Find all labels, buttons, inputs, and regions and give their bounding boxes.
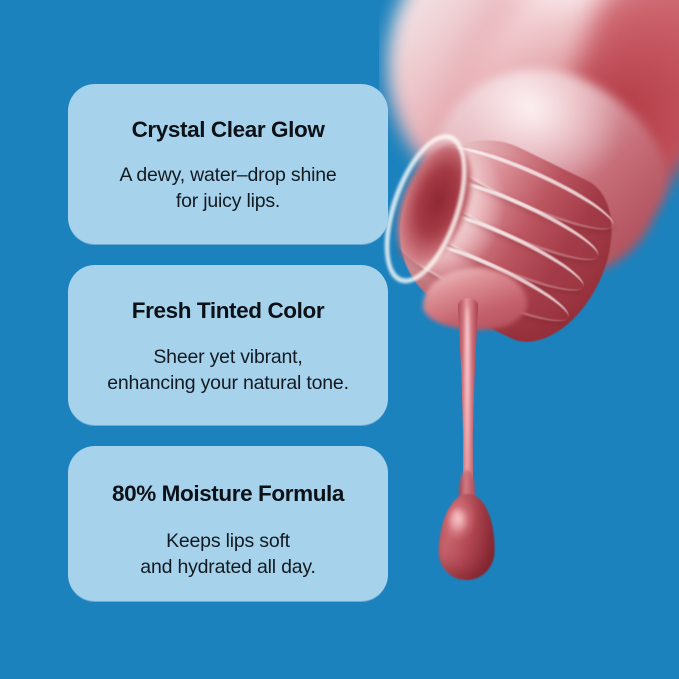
gloss-drip-teardrop — [438, 493, 497, 581]
feature-card-body-line: for juicy lips. — [84, 189, 372, 215]
product-feature-banner: Crystal Clear Glow A dewy, water–drop sh… — [0, 0, 679, 679]
feature-card-title: Fresh Tinted Color — [84, 287, 372, 324]
feature-card-body: A dewy, water–drop shine for juicy lips. — [84, 163, 372, 215]
feature-card-list: Crystal Clear Glow A dewy, water–drop sh… — [68, 84, 388, 601]
feature-card-body-line: A dewy, water–drop shine — [84, 163, 372, 189]
feature-card-crystal-clear-glow: Crystal Clear Glow A dewy, water–drop sh… — [68, 84, 388, 244]
feature-card-body-line: enhancing your natural tone. — [84, 371, 372, 397]
feature-card-body: Keeps lips soft and hydrated all day. — [84, 529, 372, 581]
feature-card-body: Sheer yet vibrant, enhancing your natura… — [84, 345, 372, 397]
feature-card-body-line: and hydrated all day. — [84, 555, 372, 581]
feature-card-title: Crystal Clear Glow — [84, 106, 372, 143]
feature-card-body-line: Keeps lips soft — [84, 529, 372, 555]
feature-card-title: 80% Moisture Formula — [84, 468, 372, 507]
feature-card-moisture-formula: 80% Moisture Formula Keeps lips soft and… — [68, 446, 388, 601]
lip-gloss-bottle-photo — [379, 0, 679, 679]
feature-card-fresh-tinted-color: Fresh Tinted Color Sheer yet vibrant, en… — [68, 265, 388, 425]
feature-card-body-line: Sheer yet vibrant, — [84, 345, 372, 371]
